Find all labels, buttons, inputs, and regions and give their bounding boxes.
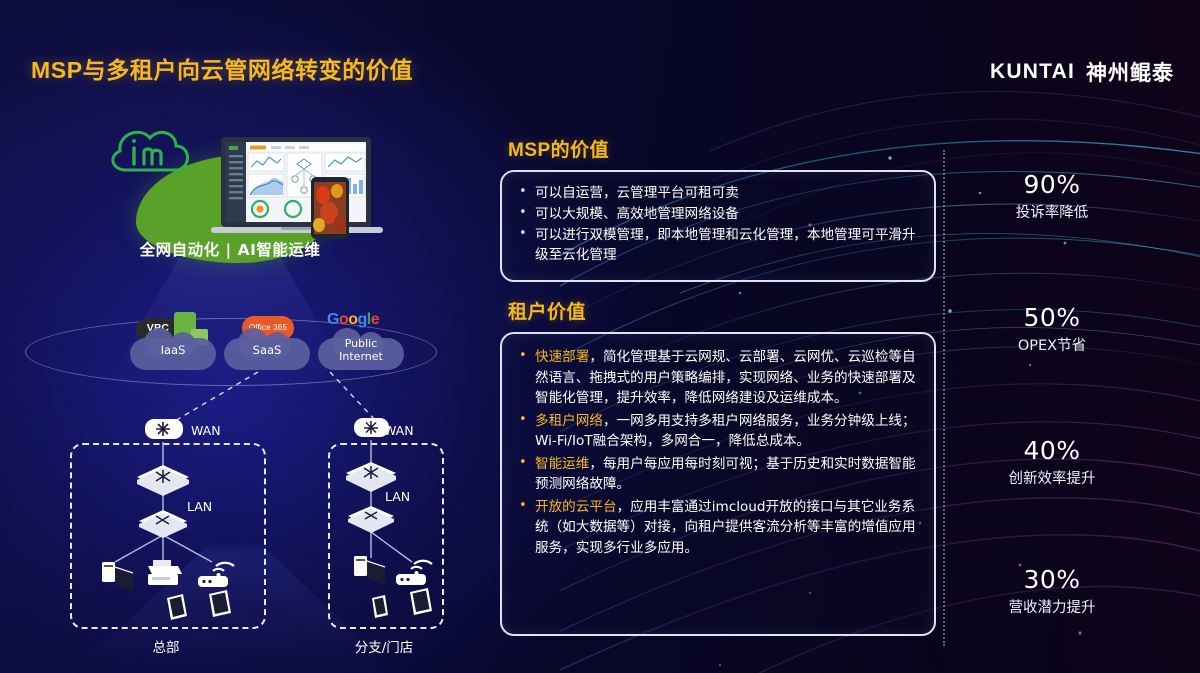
hq-server-icon [148, 560, 182, 585]
branch-wan-router-icon [354, 418, 389, 437]
cloud-node-label: SaaS [224, 344, 310, 357]
hq-access-switch-icon [139, 510, 187, 538]
list-item: 可以大规模、高效地管理网络设备 [518, 204, 920, 224]
automation-caption: 全网自动化 | AI智能运维 [0, 238, 460, 260]
logo-chinese-name: 神州鲲泰 [1086, 57, 1174, 87]
stat-caption: OPEX节省 [962, 334, 1142, 355]
hq-desktop-pc-icon [70, 562, 133, 591]
list-item-text: ，简化管理基于云网规、云部署、云网优、云巡检等自然语言、拖拽式的用户策略编排，实… [535, 349, 916, 406]
tenant-value-panel: 快速部署，简化管理基于云网规、云部署、云网优、云巡检等自然语言、拖拽式的用户策略… [500, 332, 936, 636]
stat-block-1: 50% OPEX节省 [962, 303, 1142, 355]
msp-value-panel: 可以自运营，云管理平台可租可卖 可以大规模、高效地管理网络设备 可以进行双模管理… [500, 170, 936, 282]
list-item-keyword: 快速部署 [535, 349, 589, 365]
list-item-keyword: 开放的云平台 [535, 499, 617, 515]
stat-caption: 营收潜力提升 [962, 596, 1142, 617]
logo-wordmark: KUNTAI [990, 60, 1075, 84]
stats-divider [943, 150, 945, 646]
list-item-keyword: 智能运维 [535, 456, 589, 472]
list-item: 开放的云平台，应用丰富通过imcloud开放的接口与其它业务系统（如大数据等）对… [518, 497, 920, 559]
tenant-section-heading: 租户价值 [508, 297, 586, 324]
stat-value: 90% [962, 170, 1142, 199]
branch-topology-diagram [328, 410, 458, 625]
laptop-dashboard-illustration [207, 133, 387, 243]
cloud-node-iaas: VPC IaaS [130, 328, 216, 370]
list-item: 可以进行双模管理，即本地管理和云化管理，本地管理可平滑升级至云化管理 [518, 225, 920, 265]
branch-desktop-pc-icon [328, 556, 385, 585]
list-item: 智能运维，每用户每应用每时刻可视；基于历史和实时数据智能预测网络故障。 [518, 454, 920, 495]
stat-value: 50% [962, 303, 1142, 332]
stat-block-3: 30% 营收潜力提升 [962, 565, 1142, 617]
logo-mark-text: KUNTAI [990, 60, 1075, 84]
site-caption-branch: 分支/门店 [318, 636, 450, 656]
stat-block-0: 90% 投诉率降低 [962, 170, 1142, 222]
tenant-bullet-list: 快速部署，简化管理基于云网规、云部署、云网优、云巡检等自然语言、拖拽式的用户策略… [502, 334, 934, 558]
list-item: 可以自运营，云管理平台可租可卖 [518, 183, 920, 203]
branch-tablet-icons [372, 588, 432, 618]
stat-caption: 投诉率降低 [962, 201, 1142, 222]
slide-root: MSP与多租户向云管网络转变的价值 KUNTAI 神州鲲泰 [0, 0, 1200, 673]
branch-core-switch-icon [346, 462, 396, 492]
stat-value: 30% [962, 565, 1142, 594]
list-item-text: ，每用户每应用每时刻可视；基于历史和实时数据智能预测网络故障。 [535, 456, 916, 493]
hq-wireless-ap-icon [198, 563, 234, 587]
stat-value: 40% [962, 436, 1142, 465]
cloud-node-label: IaaS [130, 344, 216, 357]
hq-tablet-icons [167, 590, 231, 620]
list-item: 多租户网络，一网多用支持多租户网络服务，业务分钟级上线；Wi-Fi/IoT融合架… [518, 411, 920, 452]
stat-block-2: 40% 创新效率提升 [962, 436, 1142, 488]
list-item: 快速部署，简化管理基于云网规、云部署、云网优、云巡检等自然语言、拖拽式的用户策略… [518, 347, 920, 409]
brand-logo: KUNTAI 神州鲲泰 [990, 57, 1174, 87]
google-badge: Google [327, 311, 379, 329]
hq-core-switch-icon [137, 465, 189, 496]
cloud-node-label: PublicInternet [318, 338, 404, 363]
branch-access-switch-icon [348, 506, 394, 533]
msp-bullet-list: 可以自运营，云管理平台可租可卖 可以大规模、高效地管理网络设备 可以进行双模管理… [502, 172, 934, 265]
imcloud-logo-icon [104, 118, 200, 182]
hq-topology-diagram [70, 410, 270, 625]
hq-wan-router-icon [145, 419, 183, 439]
cloud-node-public-internet: Google PublicInternet [318, 328, 404, 370]
cloud-node-saas: Office 365 SaaS [224, 328, 310, 370]
page-title: MSP与多租户向云管网络转变的价值 [31, 51, 413, 85]
branch-wireless-ap-icon [396, 561, 432, 585]
list-item-keyword: 多租户网络 [535, 413, 603, 429]
msp-section-heading: MSP的价值 [508, 135, 609, 162]
stat-caption: 创新效率提升 [962, 467, 1142, 488]
site-caption-headquarters: 总部 [70, 636, 262, 656]
